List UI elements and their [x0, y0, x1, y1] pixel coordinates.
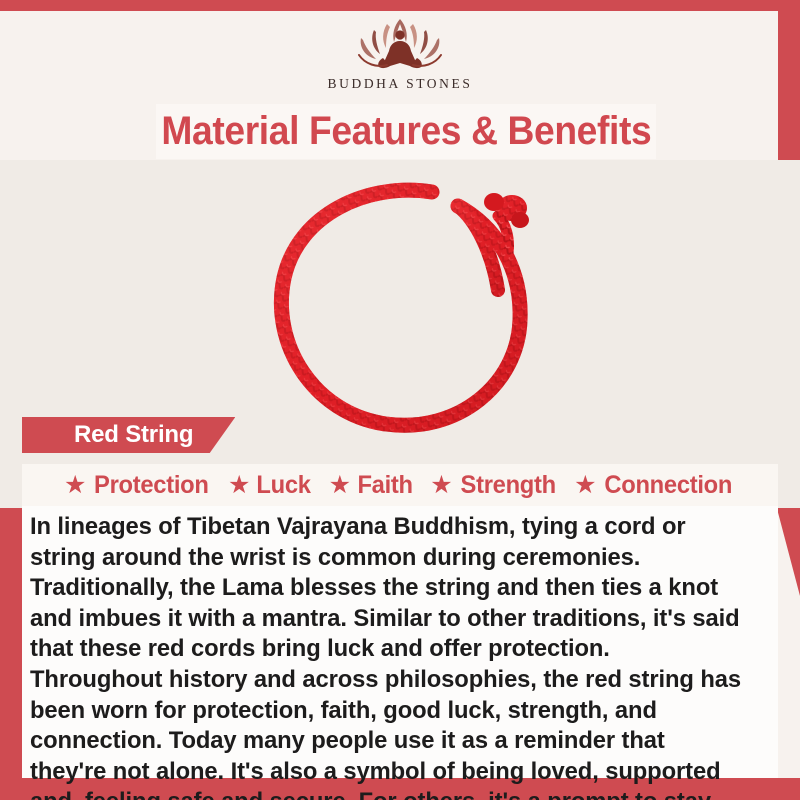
star-icon: ★: [430, 473, 452, 498]
lotus-meditation-figure-icon: [337, 11, 463, 73]
feature-label: Strength: [460, 471, 555, 500]
feature-item-strength: ★ Strength: [424, 471, 564, 500]
product-label: Red String: [74, 421, 193, 449]
product-info-poster: BUDDHA STONES Material Features & Benefi…: [0, 0, 800, 800]
feature-label: Faith: [358, 471, 413, 500]
feature-item-faith: ★ Faith: [323, 471, 421, 500]
feature-label: Luck: [257, 471, 311, 500]
brand-name: BUDDHA STONES: [328, 76, 473, 92]
brand-header: BUDDHA STONES: [0, 11, 800, 101]
feature-label: Connection: [605, 471, 733, 500]
product-label-banner: Red String: [22, 417, 235, 453]
star-icon: ★: [64, 473, 86, 498]
star-icon: ★: [574, 473, 596, 498]
feature-item-protection: ★ Protection: [58, 471, 218, 500]
red-braided-bracelet-image: [236, 172, 566, 444]
description-text: In lineages of Tibetan Vajrayana Buddhis…: [30, 512, 744, 800]
feature-item-luck: ★ Luck: [222, 471, 319, 500]
star-icon: ★: [329, 473, 351, 498]
product-image-area: [0, 160, 800, 508]
page-title: Material Features & Benefits: [161, 109, 651, 154]
feature-label: Protection: [94, 471, 209, 500]
headline-banner: Material Features & Benefits: [156, 104, 656, 159]
feature-item-connection: ★ Connection: [568, 471, 742, 500]
star-icon: ★: [228, 473, 250, 498]
description-panel: In lineages of Tibetan Vajrayana Buddhis…: [22, 506, 778, 778]
top-border-band: [0, 0, 800, 11]
feature-list: ★ Protection ★ Luck ★ Faith ★ Strength ★…: [22, 464, 778, 506]
